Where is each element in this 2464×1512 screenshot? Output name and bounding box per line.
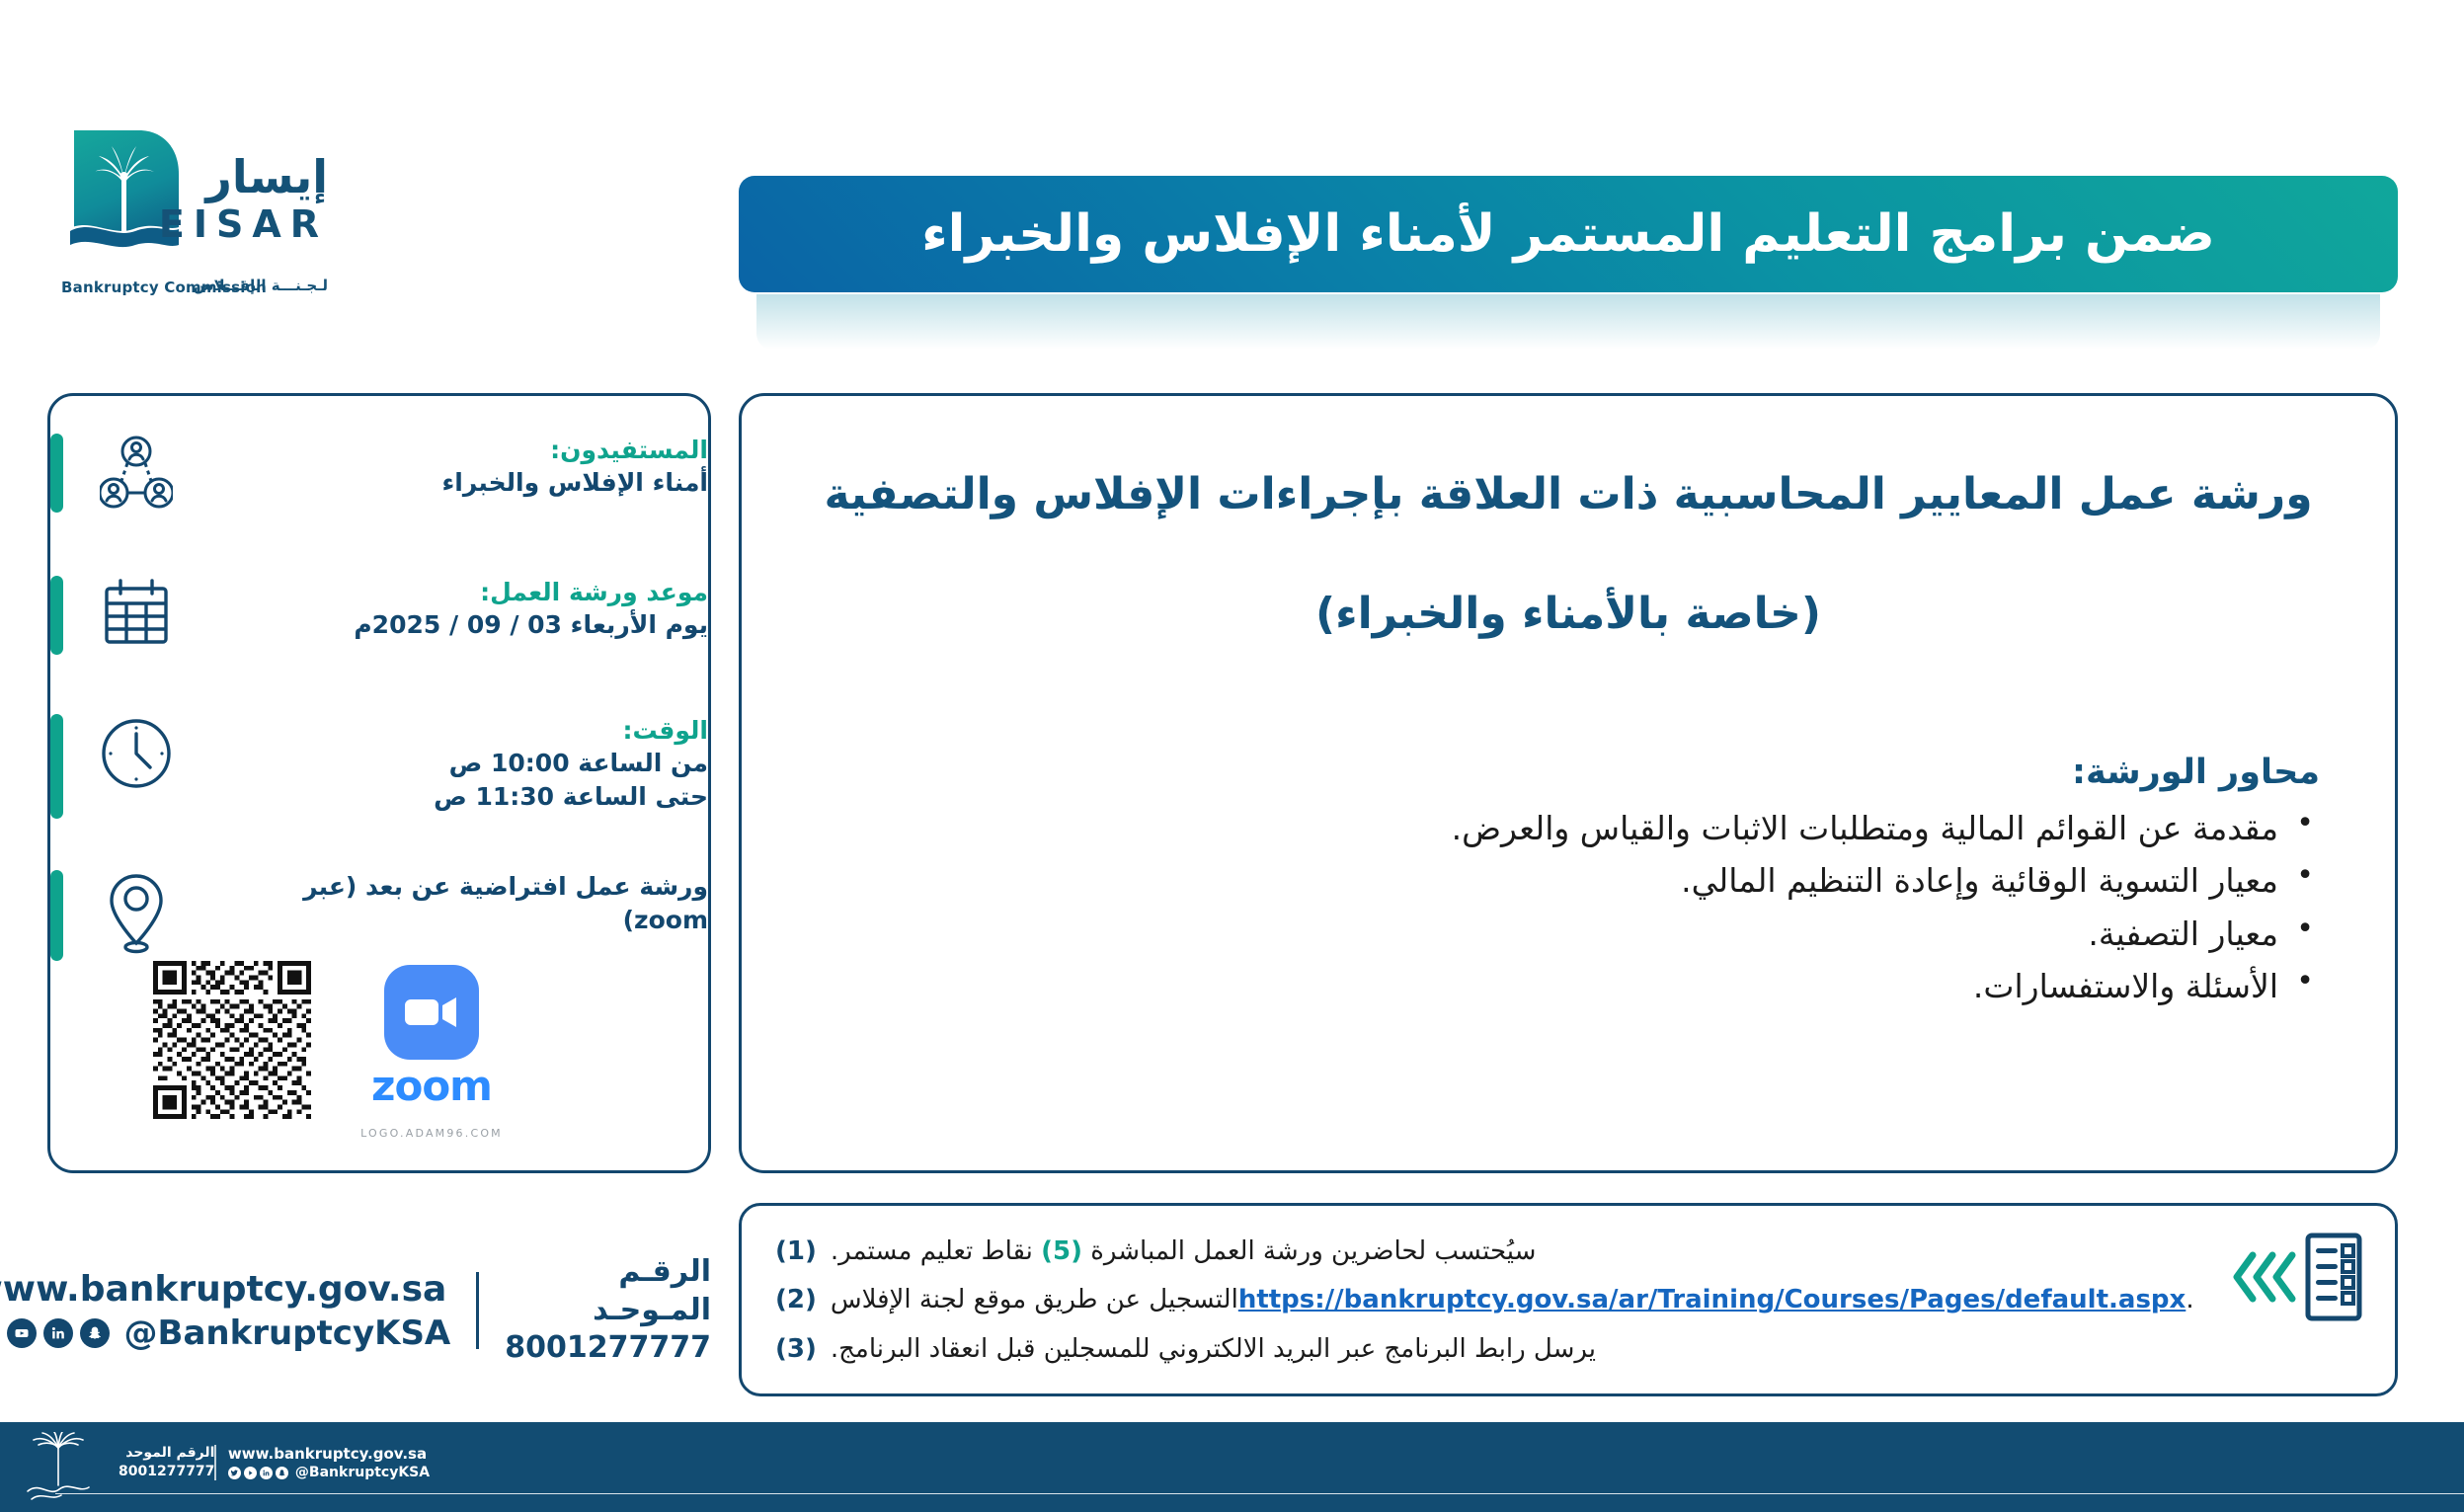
list-item: معيار التصفية. [807, 908, 2320, 960]
unified-number-label: الرقـم المـوحـد [505, 1253, 711, 1329]
note-item-1: سيُحتسب لحاضرين ورشة العمل المباشرة (5) … [775, 1228, 2211, 1276]
logo-wordmark-arabic: إيسار [205, 154, 328, 199]
logo-watermark-text: LOGO.ADAM96.COM [353, 1127, 511, 1140]
accent-bar [50, 434, 63, 513]
logo-wordmark-english: EISAR [159, 205, 328, 243]
note-1-after: نقاط تعليم مستمر. [831, 1236, 1041, 1266]
unified-number-value: 8001277777 [505, 1329, 711, 1367]
unified-number-block: الرقـم المـوحـد 8001277777 [479, 1253, 711, 1367]
detail-row-date: موعد ورشة العمل: يوم الأربعاء 03 / 09 / … [50, 576, 708, 655]
website-url[interactable]: www.bankruptcy.gov.sa [0, 1268, 450, 1311]
list-item: مقدمة عن القوائم المالية ومتطلبات الاثبا… [807, 802, 2320, 854]
detail-text-date: موعد ورشة العمل: يوم الأربعاء 03 / 09 / … [188, 576, 708, 642]
note-text-3: يرسل رابط البرنامج عبر البريد الالكتروني… [831, 1325, 1596, 1374]
note-number-2: (2) [775, 1276, 817, 1324]
detail-row-beneficiaries: المستفيدون: أمناء الإفلاس والخبراء [50, 434, 708, 513]
notes-card: سيُحتسب لحاضرين ورشة العمل المباشرة (5) … [739, 1203, 2398, 1396]
workshop-content-card: ورشة عمل المعايير المحاسبية ذات العلاقة … [739, 393, 2398, 1173]
accent-bar [50, 576, 63, 655]
contact-strip: الرقـم المـوحـد 8001277777 www.bankruptc… [59, 1256, 711, 1365]
qr-and-zoom-cluster: zoom LOGO.ADAM96.COM [92, 961, 586, 1149]
venue-label: ورشة عمل افتراضية عن بعد (عبر zoom) [221, 870, 708, 936]
date-value: يوم الأربعاء 03 / 09 / 2025م [221, 608, 708, 642]
time-value-from: من الساعة 10:00 ص [221, 747, 708, 780]
twitter-icon[interactable] [228, 1467, 241, 1479]
accent-bar [50, 870, 63, 961]
footer-social-row: @BankruptcyKSA [228, 1465, 430, 1480]
list-item: الأسئلة والاستفسارات. [807, 960, 2320, 1012]
note-item-2: .https://bankruptcy.gov.sa/ar/Training/C… [775, 1276, 2211, 1324]
footer-website-url[interactable]: www.bankruptcy.gov.sa [228, 1445, 430, 1465]
note-item-3: يرسل رابط البرنامج عبر البريد الالكتروني… [775, 1325, 2211, 1374]
eisar-logo: إيسار EISAR Bankruptcy Commission لـجـنـ… [61, 126, 328, 314]
linkedin-icon[interactable] [260, 1467, 273, 1479]
workshop-title: ورشة عمل المعايير المحاسبية ذات العلاقة … [807, 465, 2330, 523]
header-banner: ضمن برامج التعليم المستمر لأمناء الإفلاس… [739, 176, 2398, 292]
logo-tagline: Bankruptcy Commission لـجـنـــة الإفـــل… [61, 277, 328, 300]
time-value-to: حتى الساعة 11:30 ص [221, 780, 708, 814]
youtube-icon[interactable] [244, 1467, 257, 1479]
social-handle: @BankruptcyKSA [124, 1313, 451, 1353]
note-2-before: التسجيل عن طريق موقع لجنة الإفلاس [831, 1285, 1238, 1314]
palm-tree-shield-logo-icon [68, 126, 185, 275]
date-label: موعد ورشة العمل: [221, 576, 708, 608]
people-network-icon [85, 434, 188, 511]
palm-tree-outline-icon [26, 1432, 91, 1501]
footer-social-handle: @BankruptcyKSA [295, 1465, 430, 1480]
logo-tagline-ar: لـجـنـــة الإفـــلاس [194, 277, 328, 294]
zoom-wordmark: zoom [353, 1066, 511, 1107]
header-banner-reflection [756, 294, 2380, 350]
detail-text-beneficiaries: المستفيدون: أمناء الإفلاس والخبراء [188, 434, 708, 500]
social-row: @BankruptcyKSA [0, 1313, 450, 1353]
detail-text-venue: ورشة عمل افتراضية عن بعد (عبر zoom) [188, 870, 708, 936]
calendar-icon [85, 576, 188, 649]
topics-list: مقدمة عن القوائم المالية ومتطلبات الاثبا… [807, 802, 2320, 1013]
zoom-camera-icon [384, 965, 479, 1060]
accent-bar [50, 714, 63, 819]
workshop-subtitle: (خاصة بالأمناء والخبراء) [807, 585, 2330, 643]
header-title: ضمن برامج التعليم المستمر لأمناء الإفلاس… [921, 204, 2215, 264]
topics-section: محاور الورشة: مقدمة عن القوائم المالية و… [807, 753, 2330, 1013]
contact-divider [476, 1272, 479, 1349]
topics-heading: محاور الورشة: [807, 753, 2320, 792]
registration-link[interactable]: https://bankruptcy.gov.sa/ar/Training/Co… [1238, 1276, 2186, 1324]
notes-list: سيُحتسب لحاضرين ورشة العمل المباشرة (5) … [775, 1228, 2211, 1374]
website-block: www.bankruptcy.gov.sa @BankruptcyKSA [0, 1268, 476, 1352]
detail-row-venue: ورشة عمل افتراضية عن بعد (عبر zoom) [50, 870, 708, 961]
footer-unified-label: الرقم الموحد [119, 1444, 214, 1463]
snapchat-icon[interactable] [80, 1318, 110, 1348]
youtube-icon[interactable] [7, 1318, 37, 1348]
time-label: الوقت: [221, 714, 708, 747]
location-pin-icon [85, 870, 188, 955]
beneficiaries-value: أمناء الإفلاس والخبراء [221, 466, 708, 500]
note-1-accent: (5) [1041, 1236, 1082, 1266]
footer-web-block: www.bankruptcy.gov.sa @BankruptcyKSA [216, 1445, 430, 1481]
checklist-clipboard-icon [2223, 1232, 2371, 1322]
note-number-3: (3) [775, 1325, 817, 1374]
footer-bar: الرقم الموحد 8001277777 www.bankruptcy.g… [0, 1422, 2464, 1512]
list-item: معيار التسوية الوقائية وإعادة التنظيم ال… [807, 854, 2320, 907]
note-text-1: سيُحتسب لحاضرين ورشة العمل المباشرة (5) … [831, 1228, 1537, 1276]
footer-unified-block: الرقم الموحد 8001277777 [107, 1444, 214, 1481]
qr-code[interactable] [153, 961, 311, 1119]
linkedin-icon[interactable] [43, 1318, 73, 1348]
footer-unified-number: 8001277777 [119, 1463, 214, 1481]
detail-row-time: الوقت: من الساعة 10:00 ص حتى الساعة 11:3… [50, 714, 708, 819]
note-2-after: . [2186, 1285, 2193, 1314]
poster-canvas: إيسار EISAR Bankruptcy Commission لـجـنـ… [0, 0, 2464, 1512]
clock-icon [85, 714, 188, 791]
detail-text-time: الوقت: من الساعة 10:00 ص حتى الساعة 11:3… [188, 714, 708, 813]
footer-contact: الرقم الموحد 8001277777 www.bankruptcy.g… [107, 1444, 430, 1481]
snapchat-icon[interactable] [276, 1467, 288, 1479]
event-details-card: المستفيدون: أمناء الإفلاس والخبراء [47, 393, 711, 1173]
note-1-before: سيُحتسب لحاضرين ورشة العمل المباشرة [1082, 1236, 1536, 1266]
note-text-2: .https://bankruptcy.gov.sa/ar/Training/C… [831, 1276, 2194, 1324]
zoom-logo: zoom [353, 965, 511, 1107]
footer-rule [55, 1493, 2464, 1495]
beneficiaries-label: المستفيدون: [221, 434, 708, 466]
note-number-1: (1) [775, 1228, 817, 1276]
header-banner-container: ضمن برامج التعليم المستمر لأمناء الإفلاس… [739, 176, 2398, 292]
